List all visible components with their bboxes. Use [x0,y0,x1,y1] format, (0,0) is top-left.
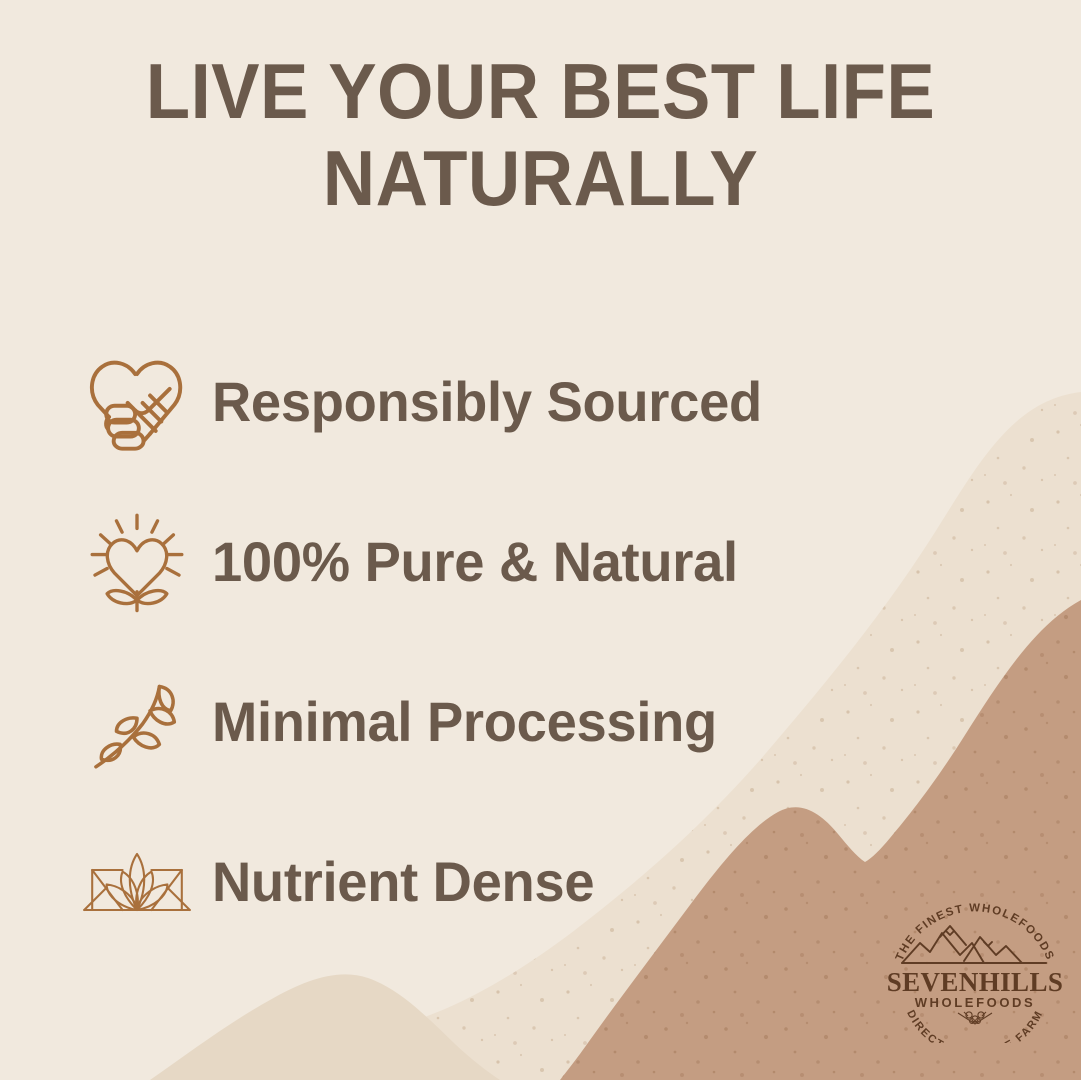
feature-item: Minimal Processing [62,642,962,802]
headline: LIVE YOUR BEST LIFE NATURALLY [0,48,1081,223]
feature-label: 100% Pure & Natural [212,534,738,590]
wave-low-hill-layer [150,974,500,1080]
feature-item: Responsibly Sourced [62,322,962,482]
promo-graphic: LIVE YOUR BEST LIFE NATURALLY [0,0,1081,1080]
lotus-mandala-icon [62,822,212,942]
brand-logo: THE FINEST WHOLEFOODS SEVENHILLS WHOLEFO… [880,893,1070,1043]
leafy-branch-icon [62,662,212,782]
headline-line-1: LIVE YOUR BEST LIFE [38,48,1043,135]
berry-cluster-icon [958,1012,992,1024]
feature-list: Responsibly Sourced [62,322,962,962]
logo-name-secondary: WHOLEFOODS [915,995,1036,1010]
logo-arc-bottom-text: DIRECT FROM THE FARM [904,1008,1045,1043]
feature-label: Minimal Processing [212,694,717,750]
feature-label: Responsibly Sourced [212,374,762,430]
feature-item: Nutrient Dense [62,802,962,962]
headline-line-2: NATURALLY [38,135,1043,222]
heart-flower-sun-icon [62,502,212,622]
handshake-heart-icon [62,342,212,462]
feature-item: 100% Pure & Natural [62,482,962,642]
logo-name-primary: SEVENHILLS [887,967,1064,997]
logo-arc-top-text: THE FINEST WHOLEFOODS [894,902,1056,962]
feature-label: Nutrient Dense [212,854,594,910]
